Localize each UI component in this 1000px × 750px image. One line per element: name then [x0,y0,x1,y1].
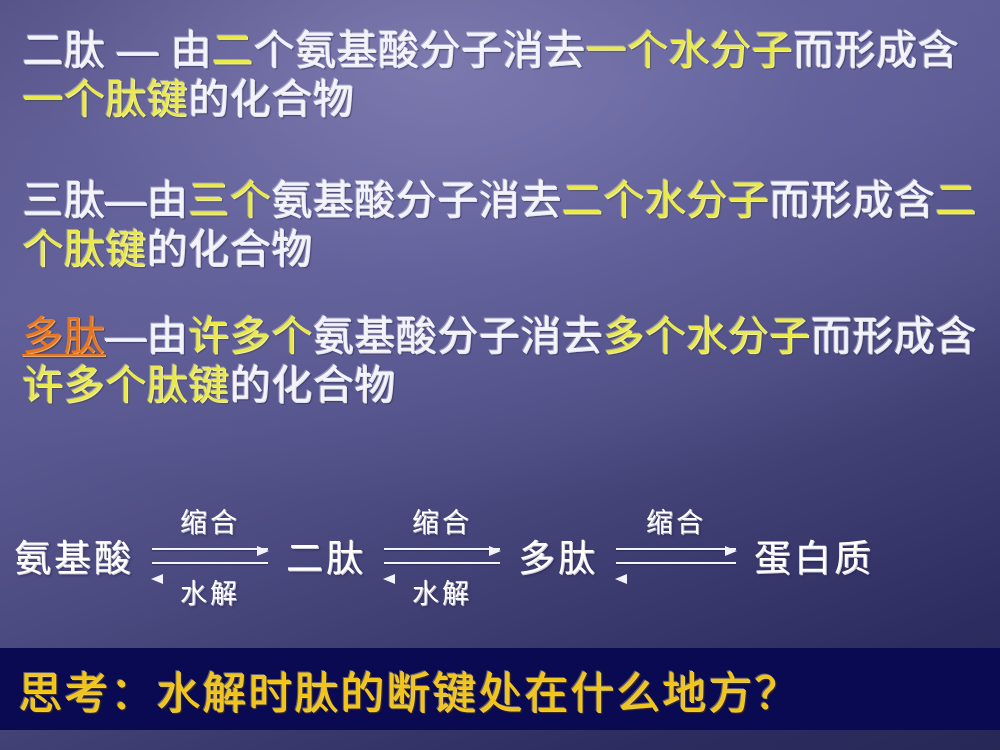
text-segment: —由 [105,313,188,359]
highlight-segment: 三个 [188,177,271,223]
diagram-node-protein: 蛋白质 [754,528,874,582]
arrow-label-condensation: 缩合 [612,501,740,540]
diagram-node-amino-acid: 氨基酸 [14,528,134,582]
text-segment: 的化合物 [230,362,396,408]
diagram-node-dipeptide: 二肽 [286,528,366,582]
highlight-segment: 一个水分子 [585,27,793,73]
arrow-line-reverse [152,562,268,564]
highlight-segment: 二个水分子 [562,177,770,223]
arrow-line-forward [152,548,268,550]
question-banner: 思考：水解时肽的断键处在什么地方？ [0,648,1000,730]
text-segment: 的化合物 [147,226,313,272]
arrow-line-reverse [616,562,736,564]
arrow-head-right-icon [489,546,501,556]
text-segment: 三肽—由 [22,177,188,223]
arrow-label-hydrolysis: 水解 [148,572,272,611]
text-segment: 而形成含 [769,177,935,223]
slide-content: 二肽 — 由二个氨基酸分子消去一个水分子而形成含一个肽键的化合物 三肽—由三个氨… [0,0,1000,750]
diagram-arrow-2: 缩合 水解 [380,501,504,609]
diagram-arrow-3: 缩合 [612,501,740,609]
double-arrow-icon [616,545,736,571]
arrow-line-reverse [384,562,500,564]
highlight-segment: 多个水分子 [603,313,811,359]
text-segment: 的化合物 [188,76,354,122]
highlight-segment: 二 [212,27,254,73]
paragraph-polypeptide-definition: 多肽—由许多个氨基酸分子消去多个水分子而形成含许多个肽键的化合物 [22,312,984,410]
highlight-segment: 许多个肽键 [22,362,230,408]
text-segment: 个氨基酸分子消去 [253,27,585,73]
highlight-segment: 许多个 [188,313,313,359]
diagram-node-polypeptide: 多肽 [518,528,598,582]
paragraph-tripeptide-definition: 三肽—由三个氨基酸分子消去二个水分子而形成含二个肽键的化合物 [22,176,984,274]
arrow-line-forward [384,548,500,550]
text-segment: 氨基酸分子消去 [271,177,562,223]
double-arrow-icon [152,545,268,571]
text-segment: 氨基酸分子消去 [313,313,604,359]
arrow-label-condensation: 缩合 [380,501,504,540]
arrow-label-hydrolysis: 水解 [380,572,504,611]
arrow-label-condensation: 缩合 [148,501,272,540]
text-segment: 二肽 — 由 [22,27,212,73]
arrow-head-right-icon [725,546,737,556]
reaction-diagram: 氨基酸 缩合 水解 二肽 缩合 水解 多肽 缩合 [14,500,986,610]
paragraph-dipeptide-definition: 二肽 — 由二个氨基酸分子消去一个水分子而形成含一个肽键的化合物 [22,26,984,124]
diagram-arrow-1: 缩合 水解 [148,501,272,609]
text-segment: 而形成含 [793,27,959,73]
arrow-line-forward [616,548,736,550]
highlight-segment: 一个肽键 [22,76,188,122]
double-arrow-icon [384,545,500,571]
arrow-head-left-icon [615,574,627,584]
slide-canvas: 二肽 — 由二个氨基酸分子消去一个水分子而形成含一个肽键的化合物 三肽—由三个氨… [0,0,1000,750]
arrow-head-right-icon [257,546,269,556]
question-banner-text: 思考：水解时肽的断键处在什么地方？ [0,657,800,721]
text-segment: 而形成含 [811,313,977,359]
term-polypeptide: 多肽 [22,313,105,359]
